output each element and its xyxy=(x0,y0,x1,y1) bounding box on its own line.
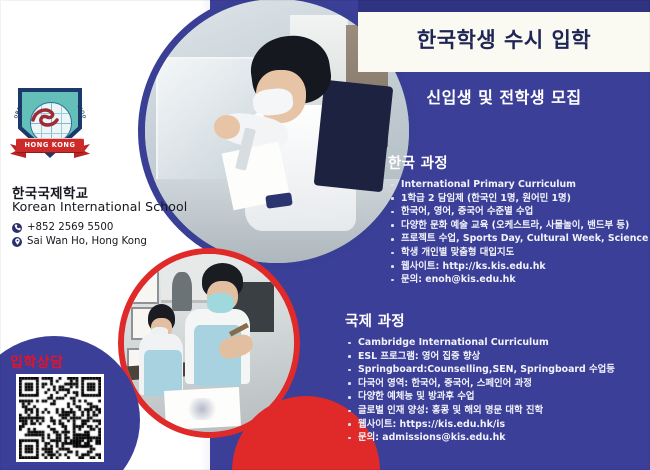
list-item: 프로젝트 수업, Sports Day, Cultural Week, Scie… xyxy=(388,232,650,246)
admissions-poster: 한국학생 수시 입학 신입생 및 전학생 모집 한국 과정 Internatio… xyxy=(0,0,650,470)
logo-banner-text: HONG KONG xyxy=(16,138,84,153)
list-item: 글로벌 인재 양성: 홍콩 및 해외 명문 대학 진학 xyxy=(345,404,615,418)
contact-info: +852 2569 5500 Sai Wan Ho, Hong Kong xyxy=(12,222,147,250)
poster-headline: 한국학생 수시 입학 xyxy=(358,24,650,54)
list-item-website[interactable]: 웹사이트: https://kis.edu.hk/is xyxy=(345,418,615,432)
contact-location-row[interactable]: Sai Wan Ho, Hong Kong xyxy=(12,236,147,247)
logo-arc-text: KOREAN INTERNATIONAL SCHOOL xyxy=(14,106,86,122)
list-item: 다국어 영역: 한국어, 중국어, 스페인어 과정 xyxy=(345,377,615,391)
poster-subheadline: 신입생 및 전학생 모집 xyxy=(358,84,650,108)
qr-label: 입학상담 xyxy=(10,352,64,372)
location-pin-icon xyxy=(12,237,22,247)
korean-curriculum-list: International Primary Curriculum 1학급 2 담… xyxy=(388,178,650,287)
phone-number: +852 2569 5500 xyxy=(27,222,113,233)
qr-code-icon[interactable] xyxy=(16,374,104,462)
list-item: 1학급 2 담임제 (한국인 1명, 원어민 1명) xyxy=(388,192,650,206)
school-name-english: Korean International School xyxy=(12,199,187,214)
list-item-website[interactable]: 웹사이트: http://ks.kis.edu.hk xyxy=(388,260,650,274)
international-curriculum-title: 국제 과정 xyxy=(345,310,615,331)
list-item: 다양한 예체능 및 방과후 수업 xyxy=(345,390,615,404)
list-item-email[interactable]: 문의: enoh@kis.edu.hk xyxy=(388,273,650,287)
international-curriculum-list: Cambridge International Curriculum ESL 프… xyxy=(345,336,615,445)
korean-curriculum-title: 한국 과정 xyxy=(388,152,650,173)
list-item-email[interactable]: 문의: admissions@kis.edu.hk xyxy=(345,431,615,445)
phone-icon xyxy=(12,223,22,233)
list-item: 학생 개인별 맞춤형 대입지도 xyxy=(388,246,650,260)
list-item: Cambridge International Curriculum xyxy=(345,336,615,350)
school-shield-logo: KOREAN INTERNATIONAL SCHOOL HONG KONG xyxy=(12,88,88,166)
top-accent-strip xyxy=(358,0,650,12)
korean-curriculum-block: 한국 과정 International Primary Curriculum 1… xyxy=(388,152,650,287)
list-item: Springboard:Counselling,SEN, Springboard… xyxy=(345,363,615,377)
svg-text:KOREAN INTERNATIONAL SCHOOL: KOREAN INTERNATIONAL SCHOOL xyxy=(14,106,86,119)
contact-phone-row[interactable]: +852 2569 5500 xyxy=(12,222,147,233)
international-curriculum-block: 국제 과정 Cambridge International Curriculum… xyxy=(345,310,615,445)
list-item: 다양한 문화 예술 교육 (오케스트라, 사물놀이, 밴드부 등) xyxy=(388,219,650,233)
list-item: 한국어, 영어, 중국어 수준별 수업 xyxy=(388,205,650,219)
school-location: Sai Wan Ho, Hong Kong xyxy=(27,236,147,247)
list-item: International Primary Curriculum xyxy=(388,178,650,192)
list-item: ESL 프로그램: 영어 집중 향상 xyxy=(345,350,615,364)
